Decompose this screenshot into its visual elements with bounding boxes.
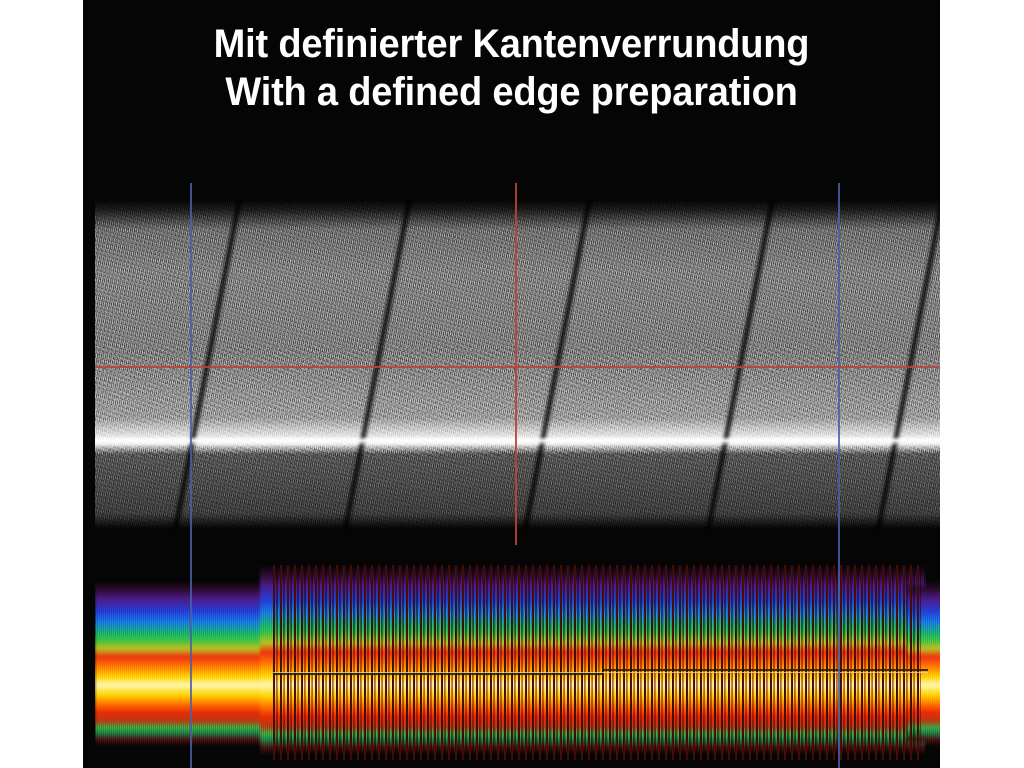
heatmap-noise-overlay: [95, 565, 940, 760]
title-line-english: With a defined edge preparation: [104, 68, 918, 116]
center-red-cursor[interactable]: [515, 183, 517, 545]
content-panel: Mit definierter Kantenverrundung With a …: [83, 0, 940, 768]
screenshot-root: Mit definierter Kantenverrundung With a …: [0, 0, 1024, 768]
heatmap-image: [95, 565, 940, 760]
red-measurement-line[interactable]: [95, 366, 940, 368]
micrograph-canvas: [95, 200, 940, 530]
title-block: Mit definierter Kantenverrundung With a …: [83, 20, 940, 116]
right-blue-cursor[interactable]: [838, 183, 840, 768]
cutting-edge-highlight: [95, 436, 940, 446]
title-line-german: Mit definierter Kantenverrundung: [104, 20, 918, 68]
left-blue-cursor[interactable]: [190, 183, 192, 768]
micrograph-image: [95, 200, 940, 530]
